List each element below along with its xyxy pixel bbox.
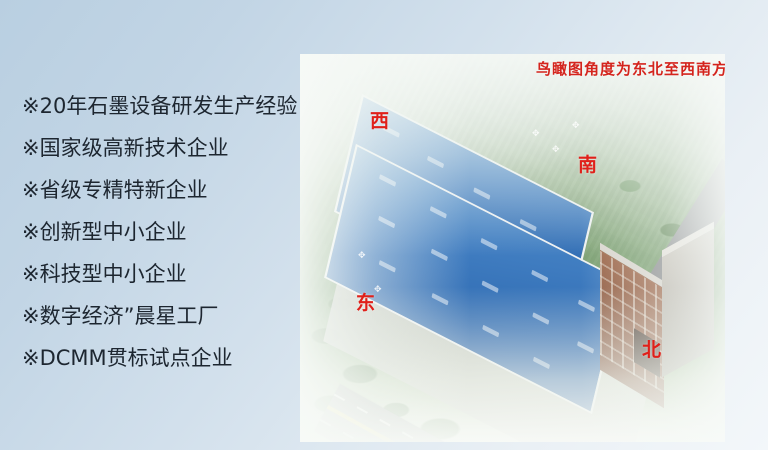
fog-overlay-right [300,54,725,442]
factory-aerial-photo: ✥ ✥ ✥ ✥ ✥ 西 南 东 北 鸟瞰图角度为东北至西南方向 [300,54,725,442]
bird-icon: ✥ [374,284,382,295]
list-item: ※20年石墨设备研发生产经验 [22,96,304,117]
direction-mark-north: 北 [642,341,661,360]
direction-mark-south: 南 [578,156,597,175]
direction-mark-west: 西 [370,112,389,131]
bird-icon: ✥ [358,250,366,261]
bird-icon: ✥ [532,128,540,139]
bird-icon: ✥ [552,144,560,155]
photo-caption: 鸟瞰图角度为东北至西南方向 [536,58,725,79]
list-item: ※DCMM贯标试点企业 [22,348,304,369]
list-item: ※国家级高新技术企业 [22,138,304,159]
bird-icon: ✥ [572,120,580,131]
list-item: ※数字经济”晨星工厂 [22,306,304,327]
list-item: ※科技型中小企业 [22,264,304,285]
slide-canvas: ※20年石墨设备研发生产经验 ※国家级高新技术企业 ※省级专精特新企业 ※创新型… [0,0,768,450]
list-item: ※省级专精特新企业 [22,180,304,201]
list-item: ※创新型中小企业 [22,222,304,243]
feature-bullet-list: ※20年石墨设备研发生产经验 ※国家级高新技术企业 ※省级专精特新企业 ※创新型… [22,96,304,390]
direction-mark-east: 东 [356,294,375,313]
